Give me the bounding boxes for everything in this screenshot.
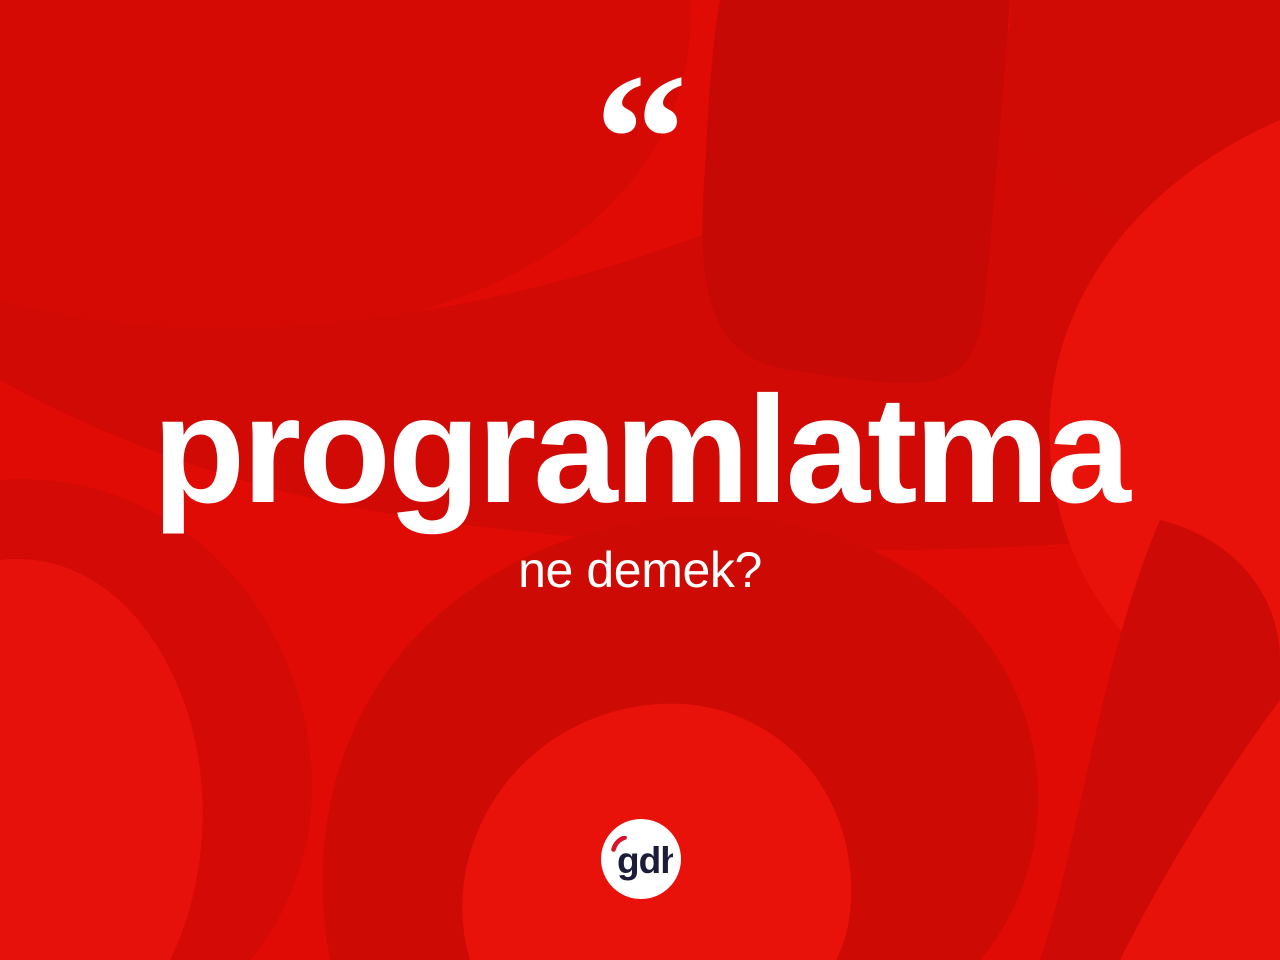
social-card: “ programlatma ne demek? gdh: [0, 0, 1280, 960]
gdh-wordmark-icon: gdh: [609, 836, 673, 882]
page-title: programlatma: [0, 374, 1280, 526]
gdh-logo[interactable]: gdh: [601, 819, 681, 899]
left-double-quote-icon: “: [0, 46, 1280, 232]
gdh-wordmark-text: gdh: [617, 840, 673, 881]
subtitle: ne demek?: [0, 545, 1280, 595]
